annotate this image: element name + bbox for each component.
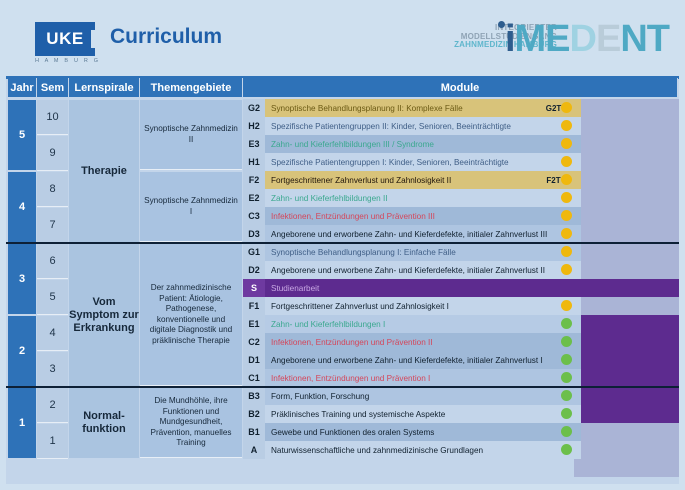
semester-cell: 8 (37, 172, 68, 207)
table-row[interactable]: G2Synoptische Behandlungsplanung II: Kom… (243, 99, 679, 117)
column-header-sem: Sem (37, 78, 69, 97)
table-body: G2PSynoptischeBehandlung IIF2PSynoptisch… (6, 99, 679, 477)
table-row[interactable]: D3Angeborene und erworbene Zahn- und Kie… (243, 225, 679, 243)
module-status-dot (561, 444, 572, 455)
semester-cell: 5 (37, 280, 68, 315)
module-code: B3 (243, 387, 265, 405)
module-theory-code: G2T (526, 99, 581, 117)
module-title: Spezifische Patientengruppen I: Kinder, … (265, 153, 581, 171)
module-code: G2 (243, 99, 265, 117)
table-row[interactable]: G1Synoptische Behandlungsplanung I: Einf… (243, 243, 679, 261)
page-title: Curriculum (110, 25, 222, 49)
module-status-dot (561, 192, 572, 203)
year-cell: 2 (8, 316, 36, 386)
uke-logo-notch (91, 30, 96, 48)
module-status-dot (561, 426, 572, 437)
semester-cell: 1 (37, 424, 68, 459)
module-title: Gewebe und Funktionen des oralen Systems (265, 423, 581, 441)
semester-cell: 10 (37, 100, 68, 135)
column-header-themengebiete: Themengebiete (140, 78, 243, 97)
module-code: C3 (243, 207, 265, 225)
imedent-wordmark: iMEDENT (505, 20, 669, 58)
module-title: Zahn- und Kieferfehlbildungen II (265, 189, 581, 207)
module-title: Zahn- und Kieferfehlbildungen I (265, 315, 581, 333)
lernspirale-cell: Therapie (69, 100, 139, 242)
module-code: E3 (243, 135, 265, 153)
table-row[interactable]: E3Zahn- und Kieferfehlbildungen III / Sy… (243, 135, 679, 153)
table-row[interactable]: F2Fortgeschrittener Zahnverlust und Zahn… (243, 171, 679, 189)
module-title: Naturwissenschaftliche und zahnmedizinis… (265, 441, 581, 459)
module-status-dot (561, 318, 572, 329)
uke-logo: UKE (35, 22, 95, 56)
module-status-dot (561, 300, 572, 311)
year-cell: 3 (8, 244, 36, 314)
table-row[interactable]: ANaturwissenschaftliche und zahnmedizini… (243, 441, 679, 459)
module-status-dot (561, 354, 572, 365)
module-title: Angeborene und erworbene Zahn- und Kiefe… (265, 225, 581, 243)
themengebiet-cell: Die Mundhöhle, ihre Funktionen und Mundg… (140, 388, 242, 458)
module-code: B2 (243, 405, 265, 423)
module-title: Form, Funktion, Forschung (265, 387, 581, 405)
lernspirale-cell: Vom Symptom zur Erkrankung (69, 244, 139, 386)
table-row[interactable]: H1Spezifische Patientengruppen I: Kinder… (243, 153, 679, 171)
year-separator (6, 386, 679, 388)
module-code: S (243, 279, 265, 297)
module-title: Zahn- und Kieferfehlbildungen III / Synd… (265, 135, 581, 153)
table-row[interactable]: B2Präklinisches Training und systemische… (243, 405, 679, 423)
table-row[interactable]: D2Angeborene und erworbene Zahn- und Kie… (243, 261, 679, 279)
module-status-dot (561, 174, 572, 185)
module-title: Infektionen, Entzündungen und Prävention… (265, 369, 581, 387)
year-separator (6, 242, 679, 244)
table-row[interactable]: E1Zahn- und Kieferfehlbildungen I (243, 315, 679, 333)
table-row[interactable]: C1Infektionen, Entzündungen und Präventi… (243, 369, 679, 387)
imedent-letter-e: E (596, 18, 620, 60)
module-status-dot (561, 228, 572, 239)
uke-logo-text: UKE (46, 29, 83, 49)
table-row[interactable]: E2Zahn- und Kieferfehlbildungen II (243, 189, 679, 207)
module-status-dot (561, 336, 572, 347)
module-code: H2 (243, 117, 265, 135)
module-title: Fortgeschrittener Zahnverlust und Zahnlo… (265, 297, 581, 315)
year-cell: 1 (8, 388, 36, 458)
semester-cell: 9 (37, 136, 68, 171)
semester-cell: 3 (37, 352, 68, 387)
module-status-dot (561, 264, 572, 275)
module-code: G1 (243, 243, 265, 261)
module-code: C2 (243, 333, 265, 351)
module-status-dot (561, 156, 572, 167)
semester-cell: 6 (37, 244, 68, 279)
module-status-dot (561, 246, 572, 257)
module-title: Angeborene und erworbene Zahn- und Kiefe… (265, 261, 581, 279)
year-cell: 5 (8, 100, 36, 170)
themengebiet-cell: Synoptische Zahnmedizin II (140, 100, 242, 170)
module-title: Infektionen, Entzündungen und Prävention… (265, 333, 581, 351)
semester-cell: 2 (37, 388, 68, 423)
module-code: E1 (243, 315, 265, 333)
themengebiet-cell: Der zahnmedizinische Patient: Ätiologie,… (140, 244, 242, 386)
lernspirale-cell: Normal-funktion (69, 388, 139, 458)
imedent-logo: INTEGRIERTER MODELLSTUDIENGANG ZAHNMEDIZ… (402, 12, 677, 58)
module-title: Angeborene und erworbene Zahn- und Kiefe… (265, 351, 581, 369)
module-status-dot (561, 102, 572, 113)
table-row[interactable]: B3Form, Funktion, Forschung (243, 387, 679, 405)
module-code: F2 (243, 171, 265, 189)
module-status-dot (561, 120, 572, 131)
table-row[interactable]: SStudienarbeit (243, 279, 679, 297)
column-header-module: Module (243, 78, 678, 97)
imedent-letters-nt: NT (620, 18, 669, 60)
uke-logo-subtitle: H A M B U R G (35, 58, 100, 64)
imedent-letter-i: i (505, 18, 515, 60)
module-title: Spezifische Patientengruppen II: Kinder,… (265, 117, 581, 135)
module-code: C1 (243, 369, 265, 387)
module-status-dot (561, 390, 572, 401)
table-row[interactable]: B1Gewebe und Funktionen des oralen Syste… (243, 423, 679, 441)
module-title: Synoptische Behandlungsplanung I: Einfac… (265, 243, 581, 261)
table-row[interactable]: C3Infektionen, Entzündungen und Präventi… (243, 207, 679, 225)
year-cell: 4 (8, 172, 36, 242)
module-status-dot (561, 210, 572, 221)
imedent-letters-me: ME (515, 18, 570, 60)
column-header-lernspirale: Lernspirale (69, 78, 140, 97)
page-header: UKE H A M B U R G Curriculum INTEGRIERTE… (0, 0, 685, 74)
module-status-dot (561, 138, 572, 149)
imedent-letter-d: D (570, 18, 596, 60)
table-row[interactable]: F1Fortgeschrittener Zahnverlust und Zahn… (243, 297, 679, 315)
module-status-dot (561, 408, 572, 419)
module-code: B1 (243, 423, 265, 441)
module-code: H1 (243, 153, 265, 171)
curriculum-table: Jahr Sem Lernspirale Themengebiete Modul… (6, 76, 679, 484)
table-row[interactable]: H2Spezifische Patientengruppen II: Kinde… (243, 117, 679, 135)
imedent-dot-icon (498, 21, 505, 28)
module-status-dot (561, 372, 572, 383)
module-code: A (243, 441, 265, 459)
module-code: D2 (243, 261, 265, 279)
module-title: Infektionen, Entzündungen und Prävention… (265, 207, 581, 225)
module-code: D3 (243, 225, 265, 243)
semester-cell: 4 (37, 316, 68, 351)
table-header-row: Jahr Sem Lernspirale Themengebiete Modul… (6, 76, 679, 98)
semester-cell: 7 (37, 208, 68, 243)
module-theory-code: F2T (526, 171, 581, 189)
column-header-jahr: Jahr (8, 78, 37, 97)
themengebiet-cell: Synoptische Zahnmedizin I (140, 172, 242, 242)
table-row[interactable]: C2Infektionen, Entzündungen und Präventi… (243, 333, 679, 351)
module-title: Präklinisches Training und systemische A… (265, 405, 581, 423)
table-row[interactable]: D1Angeborene und erworbene Zahn- und Kie… (243, 351, 679, 369)
module-title: Studienarbeit (265, 279, 679, 297)
module-code: F1 (243, 297, 265, 315)
module-code: D1 (243, 351, 265, 369)
module-code: E2 (243, 189, 265, 207)
